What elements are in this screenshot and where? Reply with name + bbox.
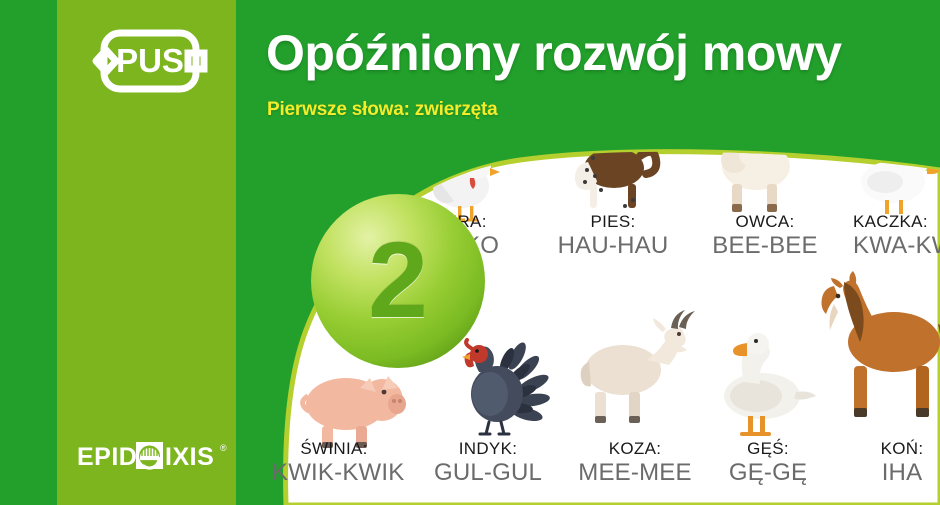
animal-cell-kon: KOŃ: IHA	[840, 440, 940, 486]
level-number-badge: 2	[310, 193, 486, 369]
page-title: Opóźniony rozwój mowy	[266, 24, 842, 82]
cover-image: KURA: KO-KO PIES: HAU-HAU OWCA: BEE-BEE …	[0, 0, 940, 505]
epideixis-text-right: IXIS	[165, 443, 214, 471]
animal-cell-ges: GĘŚ: GĘ-GĘ	[706, 440, 830, 486]
animal-sound-pies: HAU-HAU	[551, 232, 675, 260]
animal-label-pies: PIES:	[551, 213, 675, 231]
animal-sound-kon: IHA	[840, 459, 940, 487]
epideixis-logo: EPID IXIS ®	[77, 437, 237, 477]
animal-cell-indyk: INDYK: GUL-GUL	[426, 440, 550, 486]
epideixis-registered-mark: ®	[220, 443, 227, 453]
animal-sound-koza: MEE-MEE	[573, 459, 697, 487]
animal-label-swinia: ŚWINIA:	[272, 440, 396, 458]
animal-label-indyk: INDYK:	[426, 440, 550, 458]
animal-sound-indyk: GUL-GUL	[426, 459, 550, 487]
animal-cell-owca: OWCA: BEE-BEE	[703, 213, 827, 259]
animal-sound-swinia: KWIK-KWIK	[272, 459, 396, 487]
pus-logo-text: PUS	[116, 42, 184, 79]
pus-logo: PUS	[84, 27, 216, 95]
animal-cell-kaczka: KACZKA: KWA-KWA	[853, 213, 940, 259]
animal-label-kon: KOŃ:	[840, 440, 940, 458]
animal-sound-kaczka: KWA-KWA	[853, 232, 940, 260]
animal-cell-koza: KOZA: MEE-MEE	[573, 440, 697, 486]
animal-cell-swinia: ŚWINIA: KWIK-KWIK	[272, 440, 396, 486]
animal-label-koza: KOZA:	[573, 440, 697, 458]
animal-label-owca: OWCA:	[703, 213, 827, 231]
animal-cell-pies: PIES: HAU-HAU	[551, 213, 675, 259]
animal-label-kaczka: KACZKA:	[853, 213, 940, 231]
epideixis-text-left: EPID	[77, 443, 137, 471]
level-number-text: 2	[310, 193, 486, 369]
epideixis-e-icon	[136, 442, 163, 469]
animal-label-ges: GĘŚ:	[706, 440, 830, 458]
animal-sound-owca: BEE-BEE	[703, 232, 827, 260]
page-subtitle: Pierwsze słowa: zwierzęta	[267, 99, 498, 121]
animal-sound-ges: GĘ-GĘ	[706, 459, 830, 487]
